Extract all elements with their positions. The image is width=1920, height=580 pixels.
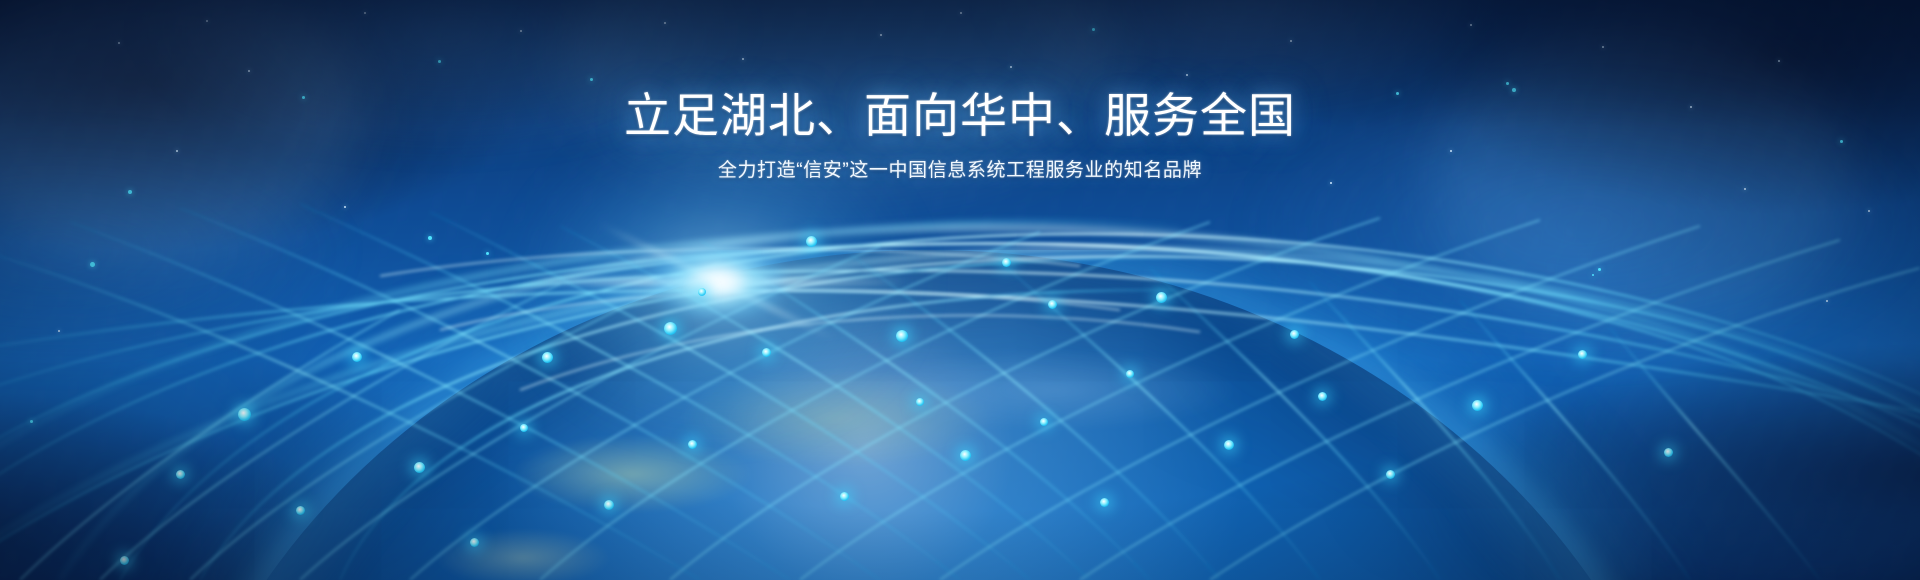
- hero-banner: 立足湖北、面向华中、服务全国 全力打造“信安”这一中国信息系统工程服务业的知名品…: [0, 0, 1920, 580]
- banner-copy: 立足湖北、面向华中、服务全国 全力打造“信安”这一中国信息系统工程服务业的知名品…: [0, 92, 1920, 180]
- banner-subheadline: 全力打造“信安”这一中国信息系统工程服务业的知名品牌: [0, 161, 1920, 180]
- vignette-overlay: [0, 0, 1920, 580]
- banner-headline: 立足湖北、面向华中、服务全国: [0, 92, 1920, 139]
